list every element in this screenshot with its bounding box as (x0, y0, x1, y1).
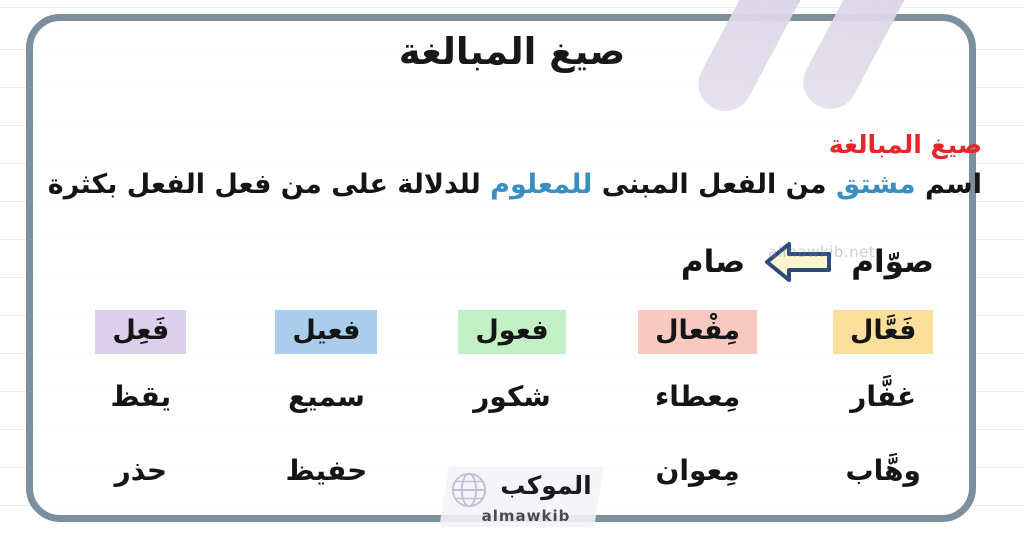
pattern-header-mifaal: مِفْعال (605, 310, 791, 353)
pattern-header-faail-short: فَعِل (48, 310, 234, 353)
pattern-header-faeel: فعيل (234, 310, 420, 353)
page-title: صيغ المبالغة (0, 30, 1024, 73)
example-cell: سميع (234, 380, 420, 413)
example-cell: يقظ (48, 380, 234, 413)
example-cell: وهَّاب (790, 454, 976, 487)
table-row: غفَّار مِعطاء شكور سميع يقظ (48, 359, 976, 433)
watermark-latin-text: almawkib (452, 507, 600, 525)
example-cell: مِعطاء (605, 380, 791, 413)
watermark-logo: الموكب almawkib (432, 465, 607, 531)
pattern-header-faoul: فعول (419, 310, 605, 353)
url-watermark: almawkib.net (768, 243, 875, 261)
example-cell: حذر (48, 454, 234, 487)
pattern-chip-1: فَعِل (95, 310, 186, 353)
section-heading: صيغ المبالغة (829, 130, 982, 159)
example-cell: مِعوان (605, 454, 791, 487)
definition-highlight-active-voice: للمعلوم (490, 169, 592, 200)
slide-content: صيغ المبالغة صيغ المبالغة اسم مشتق من ال… (0, 0, 1024, 536)
watermark-arabic-text: الموكب (490, 471, 602, 500)
pattern-chip-4: مِفْعال (638, 310, 757, 353)
pattern-chip-2: فعيل (275, 310, 377, 353)
definition-part-2: من الفعل المبنى (592, 169, 836, 200)
definition-text: اسم مشتق من الفعل المبنى للمعلوم للدلالة… (42, 168, 982, 202)
definition-highlight-derived: مشتق (836, 169, 916, 200)
example-cell: غفَّار (790, 380, 976, 413)
table-header-row: فَعَّال مِفْعال فعول فعيل فَعِل (48, 305, 976, 359)
pattern-chip-3: فعول (458, 310, 565, 353)
pattern-header-faail: فَعَّال (790, 310, 976, 353)
slide-canvas: صيغ المبالغة صيغ المبالغة اسم مشتق من ال… (0, 0, 1024, 536)
example-cell: حفيظ (234, 454, 420, 487)
definition-part-3: للدلالة على من فعل الفعل بكثرة (48, 169, 490, 200)
example-root-verb: صام (681, 244, 745, 280)
example-cell: شكور (419, 380, 605, 413)
definition-part-1: اسم (916, 169, 982, 200)
pattern-chip-5: فَعَّال (833, 310, 934, 353)
